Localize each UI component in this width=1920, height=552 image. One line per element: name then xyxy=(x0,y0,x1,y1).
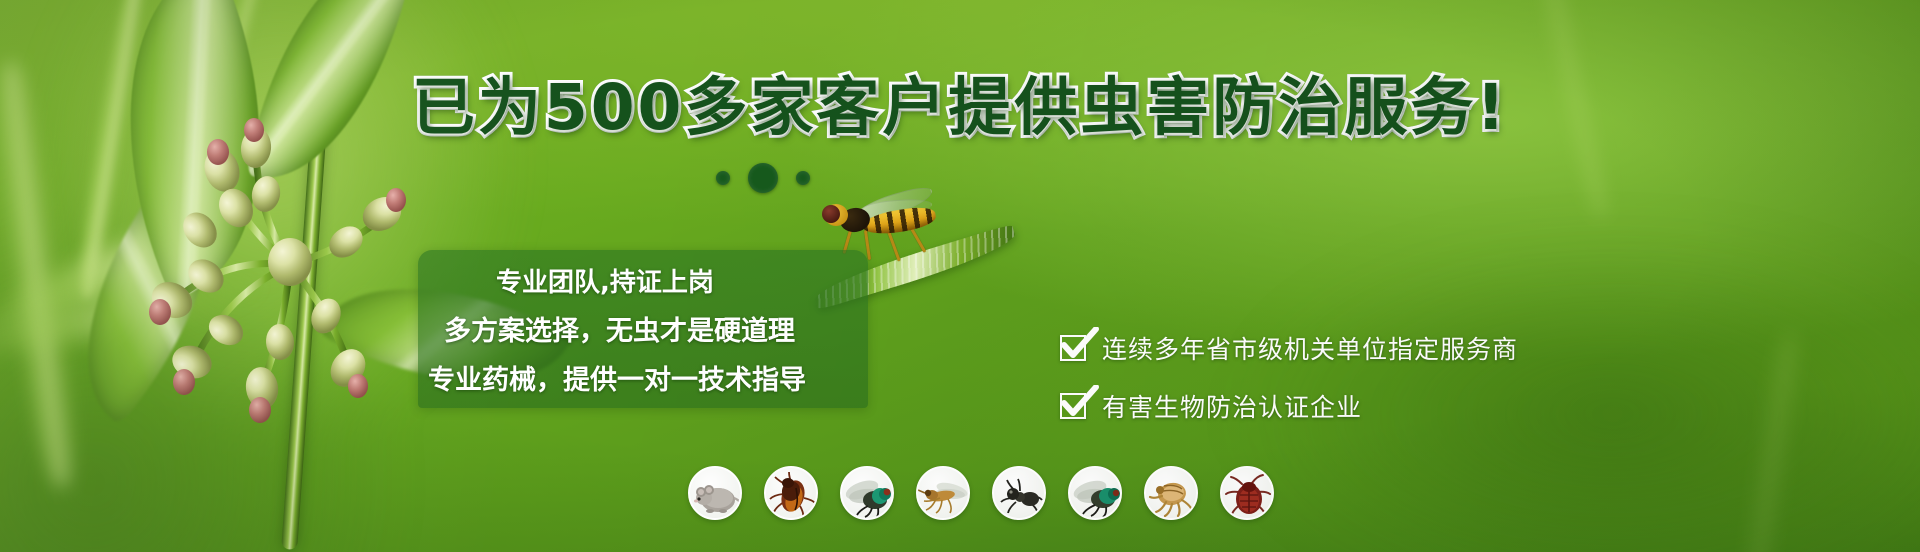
checklist-item: 有害生物防治认证企业 xyxy=(1060,388,1518,424)
feature-panel: 专业团队,持证上岗 多方案选择，无虫才是硬道理 专业药械，提供一对一技术指导 xyxy=(418,250,878,408)
flea-icon[interactable] xyxy=(1144,466,1198,520)
dot-small-right-icon xyxy=(796,171,810,185)
dot-small-left-icon xyxy=(716,171,730,185)
checkbox-checked-icon xyxy=(1060,393,1086,419)
ant-icon[interactable] xyxy=(992,466,1046,520)
banner-headline: 已为500多家客户提供虫害防治服务! xyxy=(0,76,1920,139)
checkbox-checked-icon xyxy=(1060,335,1086,361)
bedbug-icon[interactable] xyxy=(1220,466,1274,520)
pest-control-hero-banner: 已为500多家客户提供虫害防治服务! 专业团队,持证上岗 多方案选择，无虫才是硬… xyxy=(0,0,1920,552)
feature-line-1: 专业团队,持证上岗 xyxy=(418,262,878,299)
credentials-checklist: 连续多年省市级机关单位指定服务商 有害生物防治认证企业 xyxy=(1060,330,1518,424)
checklist-item-label: 连续多年省市级机关单位指定服务商 xyxy=(1102,330,1518,366)
dot-large-center-icon xyxy=(748,163,778,193)
greenbottle-fly-icon[interactable] xyxy=(1068,466,1122,520)
pest-icon-row xyxy=(688,466,1274,520)
headline-decorative-dots xyxy=(716,163,810,193)
feature-line-3: 专业药械，提供一对一技术指导 xyxy=(418,358,878,397)
cockroach-icon[interactable] xyxy=(764,466,818,520)
checklist-item: 连续多年省市级机关单位指定服务商 xyxy=(1060,330,1518,366)
mouse-icon[interactable] xyxy=(688,466,742,520)
banner-headline-text: 已为500多家客户提供虫害防治服务! xyxy=(412,71,1508,144)
feature-line-2: 多方案选择，无虫才是硬道理 xyxy=(418,309,878,348)
blowfly-icon[interactable] xyxy=(840,466,894,520)
mosquito-icon[interactable] xyxy=(916,466,970,520)
checklist-item-label: 有害生物防治认证企业 xyxy=(1102,388,1362,424)
